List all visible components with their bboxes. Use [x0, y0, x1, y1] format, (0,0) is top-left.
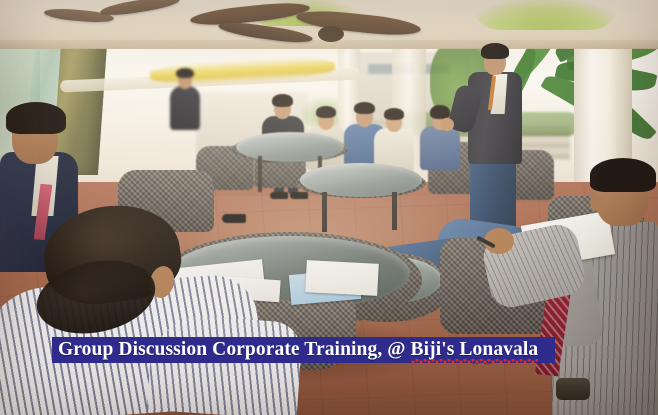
glass-table-top	[300, 163, 422, 197]
background-person-shoe	[290, 192, 308, 199]
photograph: 03 Group Discussion Corporate Training, …	[0, 0, 658, 415]
glass-table-top	[236, 132, 344, 162]
presenter-hair	[481, 43, 509, 59]
caption-segment-plain: Group Discussion Corporate Training, @	[58, 339, 411, 360]
presenter-hand	[440, 118, 454, 131]
caption-banner: Group Discussion Corporate Training, @ B…	[52, 337, 555, 363]
participant-ear	[590, 194, 603, 211]
table-leg	[392, 192, 397, 230]
background-person-shoe	[270, 192, 288, 199]
background-person-shoe	[222, 214, 246, 223]
ceiling-fan-hub	[318, 26, 344, 42]
table-leg	[258, 156, 262, 192]
participant-hair	[6, 102, 66, 134]
ceiling-cove-light-green	[470, 0, 620, 30]
table-leg	[322, 192, 327, 232]
caption-text: Group Discussion Corporate Training, @ B…	[58, 339, 538, 361]
caption-segment-spellchecked: Biji's Lonavala	[411, 339, 539, 361]
paper-sheet	[305, 260, 379, 296]
striped-shirt-shoulder	[147, 313, 303, 415]
presenter-jeans	[470, 158, 516, 228]
participant-hair	[590, 158, 656, 192]
wristwatch	[556, 378, 590, 400]
